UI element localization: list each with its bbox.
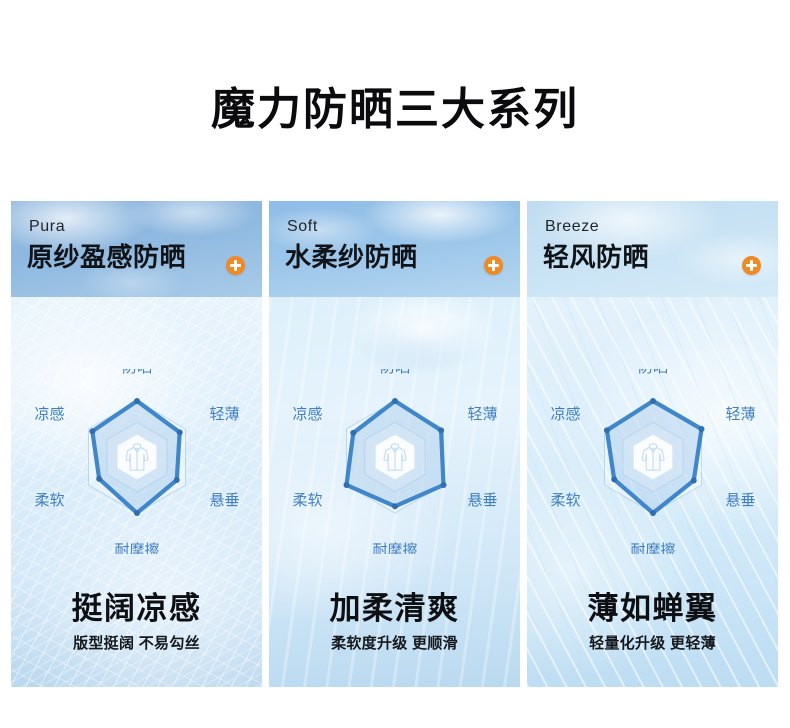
plus-bar-vertical bbox=[750, 260, 753, 271]
radar-vertex-dot bbox=[96, 476, 102, 482]
card-body: 防晒轻薄悬垂耐摩擦柔软凉感 挺阔凉感 版型挺阔 不易勾丝 bbox=[11, 297, 262, 687]
radar-vertex-dot bbox=[611, 476, 617, 482]
radar-axis-label: 防晒 bbox=[379, 369, 409, 376]
series-card-breeze[interactable]: Breeze 轻风防晒 防晒轻薄悬垂耐摩擦柔软凉感 薄如蝉翼 轻量化升级 更轻薄 bbox=[527, 201, 778, 687]
page-title: 魔力防晒三大系列 bbox=[0, 86, 790, 134]
card-footer: 加柔清爽 柔软度升级 更顺滑 bbox=[269, 592, 520, 653]
card-foot-title: 挺阔凉感 bbox=[11, 592, 262, 625]
promo-page: 魔力防晒三大系列 Pura 原纱盈感防晒 防晒轻薄悬垂耐摩擦柔软凉感 bbox=[0, 0, 790, 728]
radar-chart: 防晒轻薄悬垂耐摩擦柔软凉感 bbox=[538, 369, 768, 554]
radar-axis-label: 凉感 bbox=[292, 406, 322, 423]
radar-axis-label: 轻薄 bbox=[209, 406, 239, 423]
radar-axis-label: 悬垂 bbox=[209, 492, 239, 509]
radar-axis-label: 柔软 bbox=[34, 492, 64, 509]
plus-icon[interactable] bbox=[742, 256, 761, 275]
card-eyebrow: Pura bbox=[29, 219, 262, 235]
radar-vertex-dot bbox=[134, 510, 140, 516]
radar-chart: 防晒轻薄悬垂耐摩擦柔软凉感 bbox=[22, 369, 252, 554]
card-foot-subtitle: 柔软度升级 更顺滑 bbox=[269, 632, 520, 653]
radar-vertex-dot bbox=[392, 503, 398, 509]
radar-vertex-dot bbox=[392, 398, 398, 404]
series-card-pura[interactable]: Pura 原纱盈感防晒 防晒轻薄悬垂耐摩擦柔软凉感 挺阔凉感 版型挺阔 不易勾丝 bbox=[11, 201, 262, 687]
radar-axis-label: 悬垂 bbox=[725, 492, 755, 509]
plus-bar-vertical bbox=[492, 260, 495, 271]
radar-vertex-dot bbox=[690, 478, 696, 484]
series-card-row: Pura 原纱盈感防晒 防晒轻薄悬垂耐摩擦柔软凉感 挺阔凉感 版型挺阔 不易勾丝 bbox=[11, 201, 779, 687]
card-foot-title: 加柔清爽 bbox=[269, 592, 520, 625]
card-footer: 挺阔凉感 版型挺阔 不易勾丝 bbox=[11, 592, 262, 653]
radar-vertex-dot bbox=[650, 398, 656, 404]
radar-vertex-dot bbox=[698, 426, 704, 432]
radar-vertex-dot bbox=[343, 482, 349, 488]
series-card-soft[interactable]: Soft 水柔纱防晒 防晒轻薄悬垂耐摩擦柔软凉感 加柔清爽 柔软度升级 更顺滑 bbox=[269, 201, 520, 687]
radar-axis-label: 凉感 bbox=[34, 406, 64, 423]
radar-axis-label: 耐摩擦 bbox=[372, 541, 417, 554]
radar-axis-label: 悬垂 bbox=[467, 492, 497, 509]
radar-axis-label: 耐摩擦 bbox=[114, 541, 159, 554]
card-header: Pura 原纱盈感防晒 bbox=[11, 201, 262, 297]
radar-axis-label: 柔软 bbox=[292, 492, 322, 509]
plus-icon[interactable] bbox=[484, 256, 503, 275]
card-header: Soft 水柔纱防晒 bbox=[269, 201, 520, 297]
card-foot-subtitle: 版型挺阔 不易勾丝 bbox=[11, 632, 262, 653]
card-foot-title: 薄如蝉翼 bbox=[527, 592, 778, 625]
card-header: Breeze 轻风防晒 bbox=[527, 201, 778, 297]
radar-axis-label: 防晒 bbox=[637, 369, 667, 376]
card-eyebrow: Soft bbox=[287, 219, 520, 235]
radar-vertex-dot bbox=[89, 428, 95, 434]
radar-vertex-dot bbox=[173, 477, 179, 483]
radar-axis-label: 轻薄 bbox=[467, 406, 497, 423]
radar-axis-label: 防晒 bbox=[121, 369, 151, 376]
card-eyebrow: Breeze bbox=[545, 219, 778, 235]
radar-chart: 防晒轻薄悬垂耐摩擦柔软凉感 bbox=[280, 369, 510, 554]
radar-vertex-dot bbox=[350, 430, 356, 436]
card-foot-subtitle: 轻量化升级 更轻薄 bbox=[527, 632, 778, 653]
card-body: 防晒轻薄悬垂耐摩擦柔软凉感 加柔清爽 柔软度升级 更顺滑 bbox=[269, 297, 520, 687]
radar-chart-container: 防晒轻薄悬垂耐摩擦柔软凉感 bbox=[527, 369, 778, 554]
radar-vertex-dot bbox=[438, 427, 444, 433]
radar-vertex-dot bbox=[440, 482, 446, 488]
radar-vertex-dot bbox=[134, 398, 140, 404]
radar-vertex-dot bbox=[603, 427, 609, 433]
radar-vertex-dot bbox=[650, 510, 656, 516]
radar-axis-label: 耐摩擦 bbox=[630, 541, 675, 554]
plus-icon[interactable] bbox=[226, 256, 245, 275]
radar-vertex-dot bbox=[176, 429, 182, 435]
radar-axis-label: 柔软 bbox=[550, 492, 580, 509]
radar-chart-container: 防晒轻薄悬垂耐摩擦柔软凉感 bbox=[269, 369, 520, 554]
radar-chart-container: 防晒轻薄悬垂耐摩擦柔软凉感 bbox=[11, 369, 262, 554]
radar-axis-label: 轻薄 bbox=[725, 406, 755, 423]
plus-bar-vertical bbox=[234, 260, 237, 271]
card-footer: 薄如蝉翼 轻量化升级 更轻薄 bbox=[527, 592, 778, 653]
card-body: 防晒轻薄悬垂耐摩擦柔软凉感 薄如蝉翼 轻量化升级 更轻薄 bbox=[527, 297, 778, 687]
radar-axis-label: 凉感 bbox=[550, 406, 580, 423]
